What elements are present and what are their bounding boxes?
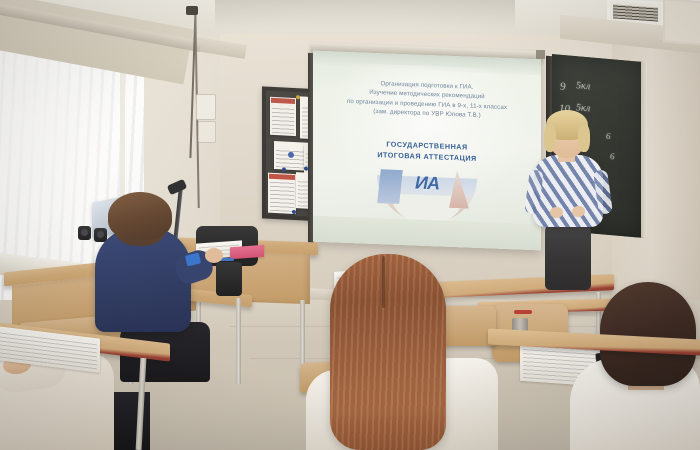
chalk-note: 6 [610, 151, 615, 161]
bulletin-paper [274, 141, 308, 171]
gia-logo-icon: ИА [377, 161, 477, 227]
gia-logo-text: ИА [377, 171, 477, 196]
ceiling-shadow [215, 0, 515, 30]
attendee-auburn-hair [330, 254, 446, 450]
desktop-speaker [78, 226, 91, 240]
presenter-hair-side [578, 124, 590, 152]
projection-screen: Организация подготовки к ГИА. Изучение м… [313, 51, 541, 251]
presenter-hand-right [572, 206, 585, 217]
blackboard-frame-right [641, 62, 647, 239]
bulletin-paper [268, 173, 296, 214]
wall-panel [663, 0, 700, 46]
presenter-blouse [533, 155, 603, 227]
chalk-note: 6 [606, 131, 611, 141]
attendee-navy-hair [108, 192, 172, 240]
chalk-note: 9 [560, 81, 566, 93]
attendee-bob-hair [600, 282, 696, 386]
wall-socket-lower [198, 121, 216, 143]
office-chair-post [216, 262, 242, 296]
wall-socket [196, 94, 216, 120]
bulletin-paper [270, 97, 296, 136]
screen-roller-end-cap [536, 50, 545, 59]
presenter-legs [545, 218, 591, 290]
cable-clip [186, 6, 198, 15]
presenter-hand-left [550, 207, 563, 218]
marker-pen [514, 310, 532, 314]
chalk-note: 5кл [576, 80, 590, 92]
attendee-auburn-hair-part [382, 256, 385, 308]
pink-folder [230, 245, 264, 259]
attendee-navy-hand [205, 248, 223, 263]
classroom-photo: Организация подготовки к ГИА. Изучение м… [0, 0, 700, 450]
presenter-hair-side [544, 124, 556, 152]
